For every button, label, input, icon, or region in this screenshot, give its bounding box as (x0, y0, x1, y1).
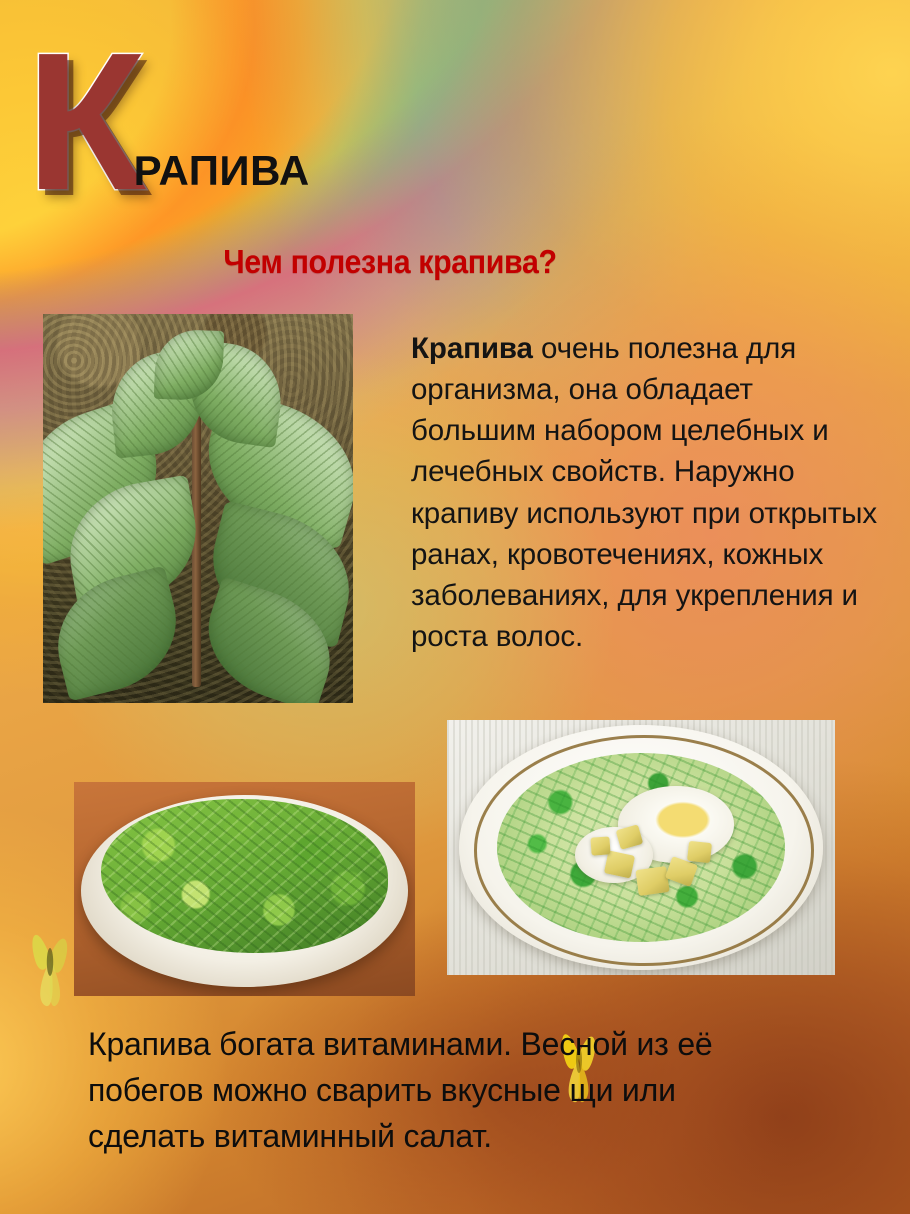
nettle-soup-photo (447, 720, 835, 975)
title-remainder: РАПИВА (134, 147, 310, 207)
body-paragraph-rest: очень полезна для организма, она обладае… (411, 332, 877, 653)
body-paragraph: Крапива очень полезна для организма, она… (411, 328, 881, 657)
section-subtitle: Чем полезна крапива? (31, 243, 749, 281)
nettle-soup-photo-content (447, 720, 835, 975)
bottom-paragraph: Крапива богата витаминами. Весной из её … (88, 1022, 768, 1159)
slide-canvas: КРАПИВА Чем полезна крапива? Крапива оче… (0, 0, 910, 1214)
nettle-plant-photo-content (43, 314, 353, 703)
nettle-salad-photo (74, 782, 415, 996)
page-title: КРАПИВА (26, 38, 310, 207)
body-paragraph-lead: Крапива (411, 332, 533, 365)
potato-cube (687, 841, 712, 864)
potato-cube (635, 866, 669, 896)
nettle-salad-photo-content (74, 782, 415, 996)
title-dropcap-letter: К (26, 38, 140, 207)
nettle-plant-photo (43, 314, 353, 703)
potato-cube (590, 837, 611, 856)
